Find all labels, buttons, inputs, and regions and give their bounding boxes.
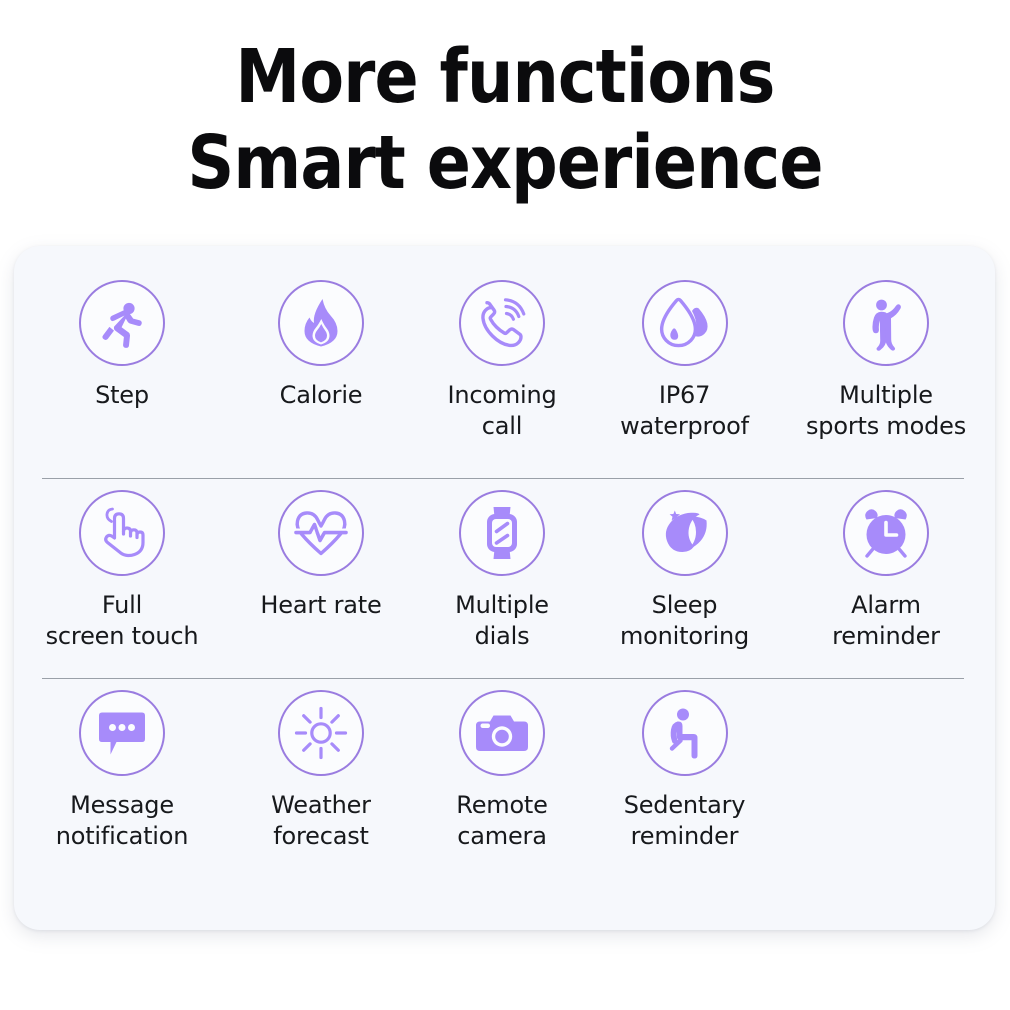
stretching-person-icon	[843, 280, 929, 366]
flame-icon	[278, 280, 364, 366]
feature-label: Calorie	[280, 380, 363, 411]
running-person-icon	[79, 280, 165, 366]
feature-label: Sedentary reminder	[624, 790, 746, 852]
feature-item-step[interactable]: Step	[14, 280, 230, 411]
feature-item-full-screen-touch[interactable]: Full screen touch	[14, 490, 230, 652]
feature-item-incoming-call[interactable]: Incoming call	[412, 280, 592, 442]
feature-item-weather-forecast[interactable]: Weather forecast	[230, 690, 412, 852]
water-drop-icon	[642, 280, 728, 366]
feature-label: Remote camera	[456, 790, 547, 852]
feature-label: IP67 waterproof	[620, 380, 749, 442]
feature-item-sleep-monitoring[interactable]: Sleep monitoring	[592, 490, 777, 652]
feature-grid: Step Calorie	[14, 246, 995, 930]
heart-pulse-icon	[278, 490, 364, 576]
feature-label: Heart rate	[260, 590, 381, 621]
feature-label: Alarm reminder	[832, 590, 940, 652]
page-title-line-2: Smart experience	[61, 120, 950, 206]
feature-item-sports-modes[interactable]: Multiple sports modes	[777, 280, 995, 442]
page-title-line-1: More functions	[61, 34, 950, 120]
seated-person-icon	[642, 690, 728, 776]
feature-row-3: Message notification	[14, 690, 995, 880]
page-title: More functions Smart experience	[61, 34, 950, 206]
sun-icon	[278, 690, 364, 776]
touch-hand-icon	[79, 490, 165, 576]
feature-label: Weather forecast	[271, 790, 371, 852]
feature-label: Step	[95, 380, 149, 411]
feature-item-remote-camera[interactable]: Remote camera	[412, 690, 592, 852]
feature-label: Full screen touch	[46, 590, 199, 652]
feature-label: Multiple sports modes	[806, 380, 966, 442]
feature-item-heart-rate[interactable]: Heart rate	[230, 490, 412, 621]
camera-icon	[459, 690, 545, 776]
row-divider-1	[42, 478, 964, 479]
feature-label: Incoming call	[447, 380, 556, 442]
feature-item-sedentary-reminder[interactable]: Sedentary reminder	[592, 690, 777, 852]
feature-label: Multiple dials	[455, 590, 549, 652]
alarm-clock-icon	[843, 490, 929, 576]
feature-row-2: Full screen touch Heart rate	[14, 490, 995, 680]
smartwatch-icon	[459, 490, 545, 576]
feature-row-1: Step Calorie	[14, 280, 995, 476]
feature-item-message-notification[interactable]: Message notification	[14, 690, 230, 852]
feature-card: Step Calorie	[14, 246, 995, 930]
feature-item-alarm-reminder[interactable]: Alarm reminder	[777, 490, 995, 652]
promo-feature-page: More functions Smart experience Step	[0, 0, 1010, 1010]
feature-item-multiple-dials[interactable]: Multiple dials	[412, 490, 592, 652]
moon-stars-icon	[642, 490, 728, 576]
speech-bubble-icon	[79, 690, 165, 776]
feature-label: Message notification	[56, 790, 189, 852]
phone-ringing-icon	[459, 280, 545, 366]
feature-item-calorie[interactable]: Calorie	[230, 280, 412, 411]
feature-item-waterproof[interactable]: IP67 waterproof	[592, 280, 777, 442]
feature-label: Sleep monitoring	[620, 590, 749, 652]
